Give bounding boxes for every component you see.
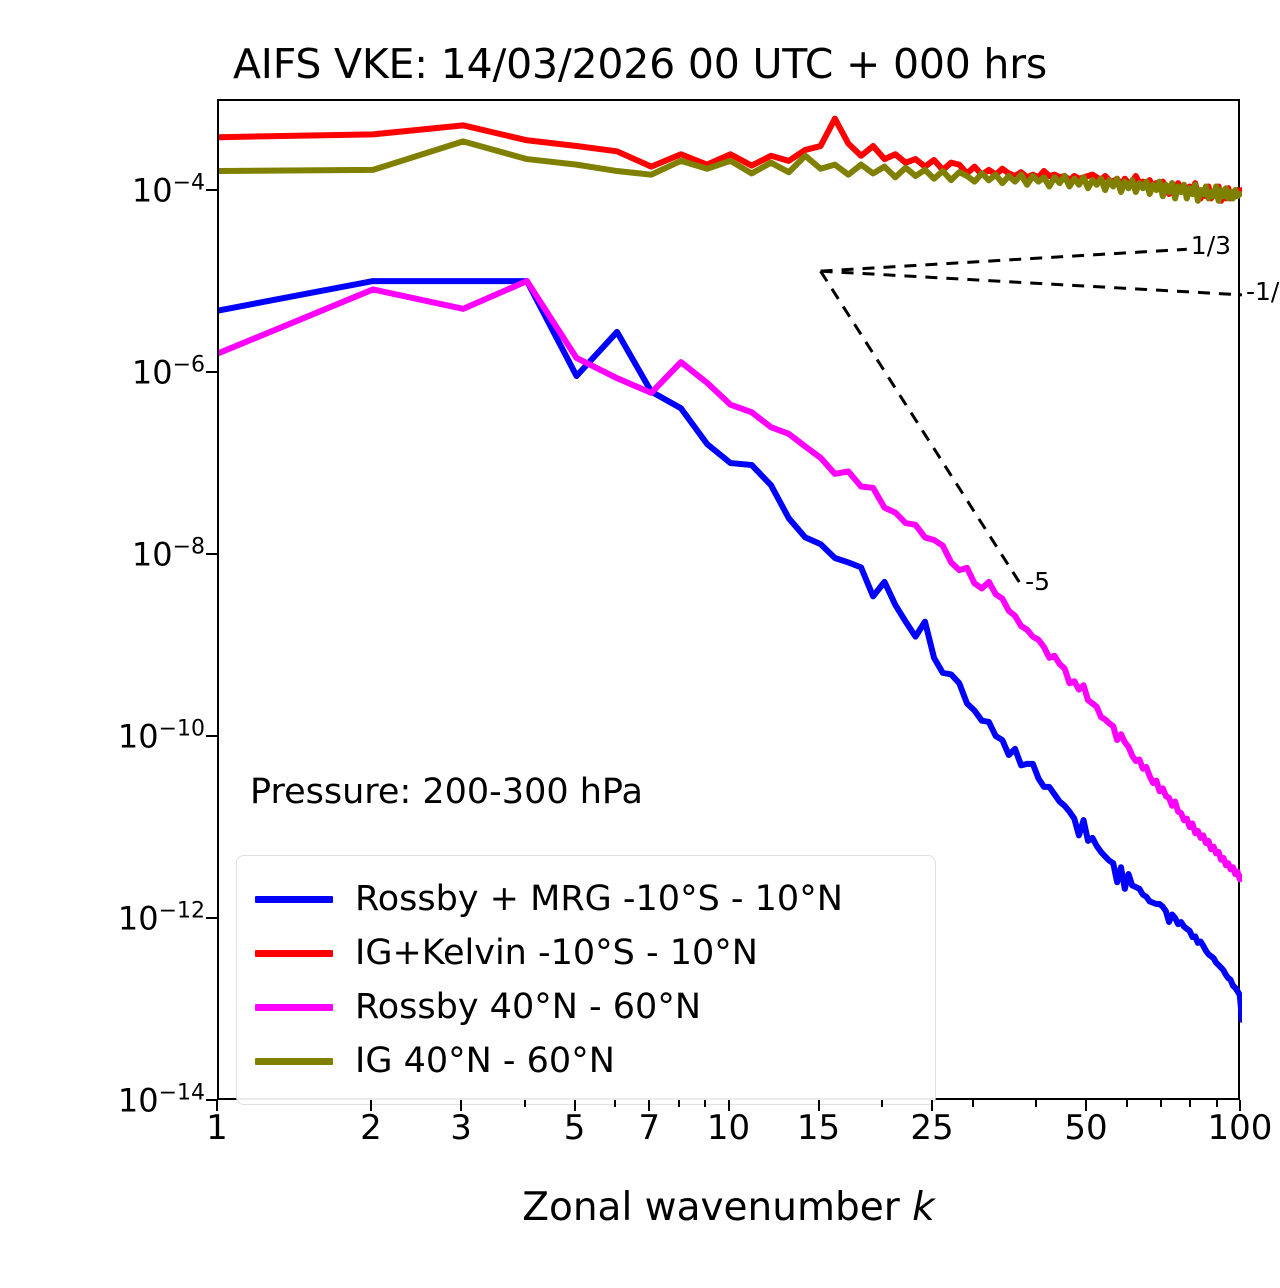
y-tick-label-5: 10−14	[118, 1081, 205, 1120]
legend-label-ig-kelvin: IG+Kelvin -10°S - 10°N	[355, 936, 758, 971]
x-minor-tick	[704, 1100, 706, 1107]
x-tick-mark-6	[818, 1100, 820, 1111]
legend-label-rossby-mid: Rossby 40°N - 60°N	[355, 990, 701, 1025]
x-tick-label-3: 5	[564, 1108, 586, 1148]
slope-label--1-3: -1/3	[1246, 277, 1280, 306]
x-minor-tick	[1126, 1100, 1128, 1107]
reference-line-1-3	[821, 249, 1187, 271]
x-tick-label-2: 3	[450, 1108, 472, 1148]
x-tick-mark-9	[1239, 1100, 1241, 1111]
x-minor-tick	[460, 1100, 462, 1107]
x-minor-tick	[648, 1100, 650, 1107]
series-line-3	[219, 141, 1240, 200]
legend-swatch-magenta	[255, 1004, 333, 1011]
x-minor-tick	[574, 1100, 576, 1107]
y-tick-label-0: 10−4	[132, 171, 205, 210]
legend-swatch-olive	[255, 1058, 333, 1065]
reference-line--1-3	[821, 271, 1242, 295]
slope-label--5: -5	[1025, 567, 1050, 596]
y-tick-mark-1	[206, 371, 217, 373]
x-minor-tick	[614, 1100, 616, 1107]
x-minor-tick	[1189, 1100, 1191, 1107]
reference-line--5	[821, 271, 1022, 585]
x-tick-label-6: 15	[797, 1108, 840, 1148]
chart-figure: AIFS VKE: 14/03/2026 00 UTC + 000 hrs 10…	[0, 0, 1280, 1288]
x-minor-tick	[881, 1100, 883, 1107]
y-tick-label-4: 10−12	[118, 899, 205, 938]
legend-item-ig-kelvin[interactable]: IG+Kelvin -10°S - 10°N	[255, 926, 915, 980]
x-axis-label-italic: k	[912, 1185, 935, 1230]
chart-legend: Rossby + MRG -10°S - 10°N IG+Kelvin -10°…	[236, 855, 936, 1105]
x-tick-label-5: 10	[707, 1108, 750, 1148]
x-minor-tick	[1160, 1100, 1162, 1107]
x-minor-tick	[678, 1100, 680, 1107]
legend-swatch-blue	[255, 896, 333, 903]
y-tick-label-2: 10−8	[132, 535, 205, 574]
x-minor-tick	[524, 1100, 526, 1107]
x-tick-label-0: 1	[206, 1108, 228, 1148]
x-tick-mark-7	[931, 1100, 933, 1111]
slope-label-1-3: 1/3	[1191, 231, 1231, 260]
y-axis-tick-column: 10−410−610−810−1010−1210−14	[0, 0, 205, 1288]
legend-item-rossby-mid[interactable]: Rossby 40°N - 60°N	[255, 980, 915, 1034]
x-tick-label-1: 2	[360, 1108, 382, 1148]
legend-item-ig-mid[interactable]: IG 40°N - 60°N	[255, 1034, 915, 1088]
x-tick-label-8: 50	[1064, 1108, 1107, 1148]
y-tick-mark-0	[206, 189, 217, 191]
x-minor-tick	[1216, 1100, 1218, 1107]
x-tick-label-9: 100	[1208, 1108, 1273, 1148]
legend-label-rossby-mrg: Rossby + MRG -10°S - 10°N	[355, 882, 843, 917]
y-tick-mark-2	[206, 553, 217, 555]
y-tick-mark-4	[206, 917, 217, 919]
legend-label-ig-mid: IG 40°N - 60°N	[355, 1044, 615, 1079]
x-minor-tick	[728, 1100, 730, 1107]
x-minor-tick	[972, 1100, 974, 1107]
x-tick-label-7: 25	[910, 1108, 953, 1148]
x-minor-tick	[216, 1100, 218, 1107]
x-minor-tick	[370, 1100, 372, 1107]
y-tick-label-3: 10−10	[118, 717, 205, 756]
x-axis-label: Zonal wavenumber k	[217, 1185, 1240, 1230]
x-tick-label-4: 7	[638, 1108, 660, 1148]
y-tick-mark-3	[206, 735, 217, 737]
legend-item-rossby-mrg[interactable]: Rossby + MRG -10°S - 10°N	[255, 872, 915, 926]
x-minor-tick	[1085, 1100, 1087, 1107]
x-minor-tick	[1035, 1100, 1037, 1107]
pressure-annotation: Pressure: 200-300 hPa	[250, 772, 643, 812]
x-axis-label-text: Zonal wavenumber	[522, 1185, 912, 1230]
legend-swatch-red	[255, 950, 333, 957]
y-tick-label-1: 10−6	[132, 353, 205, 392]
